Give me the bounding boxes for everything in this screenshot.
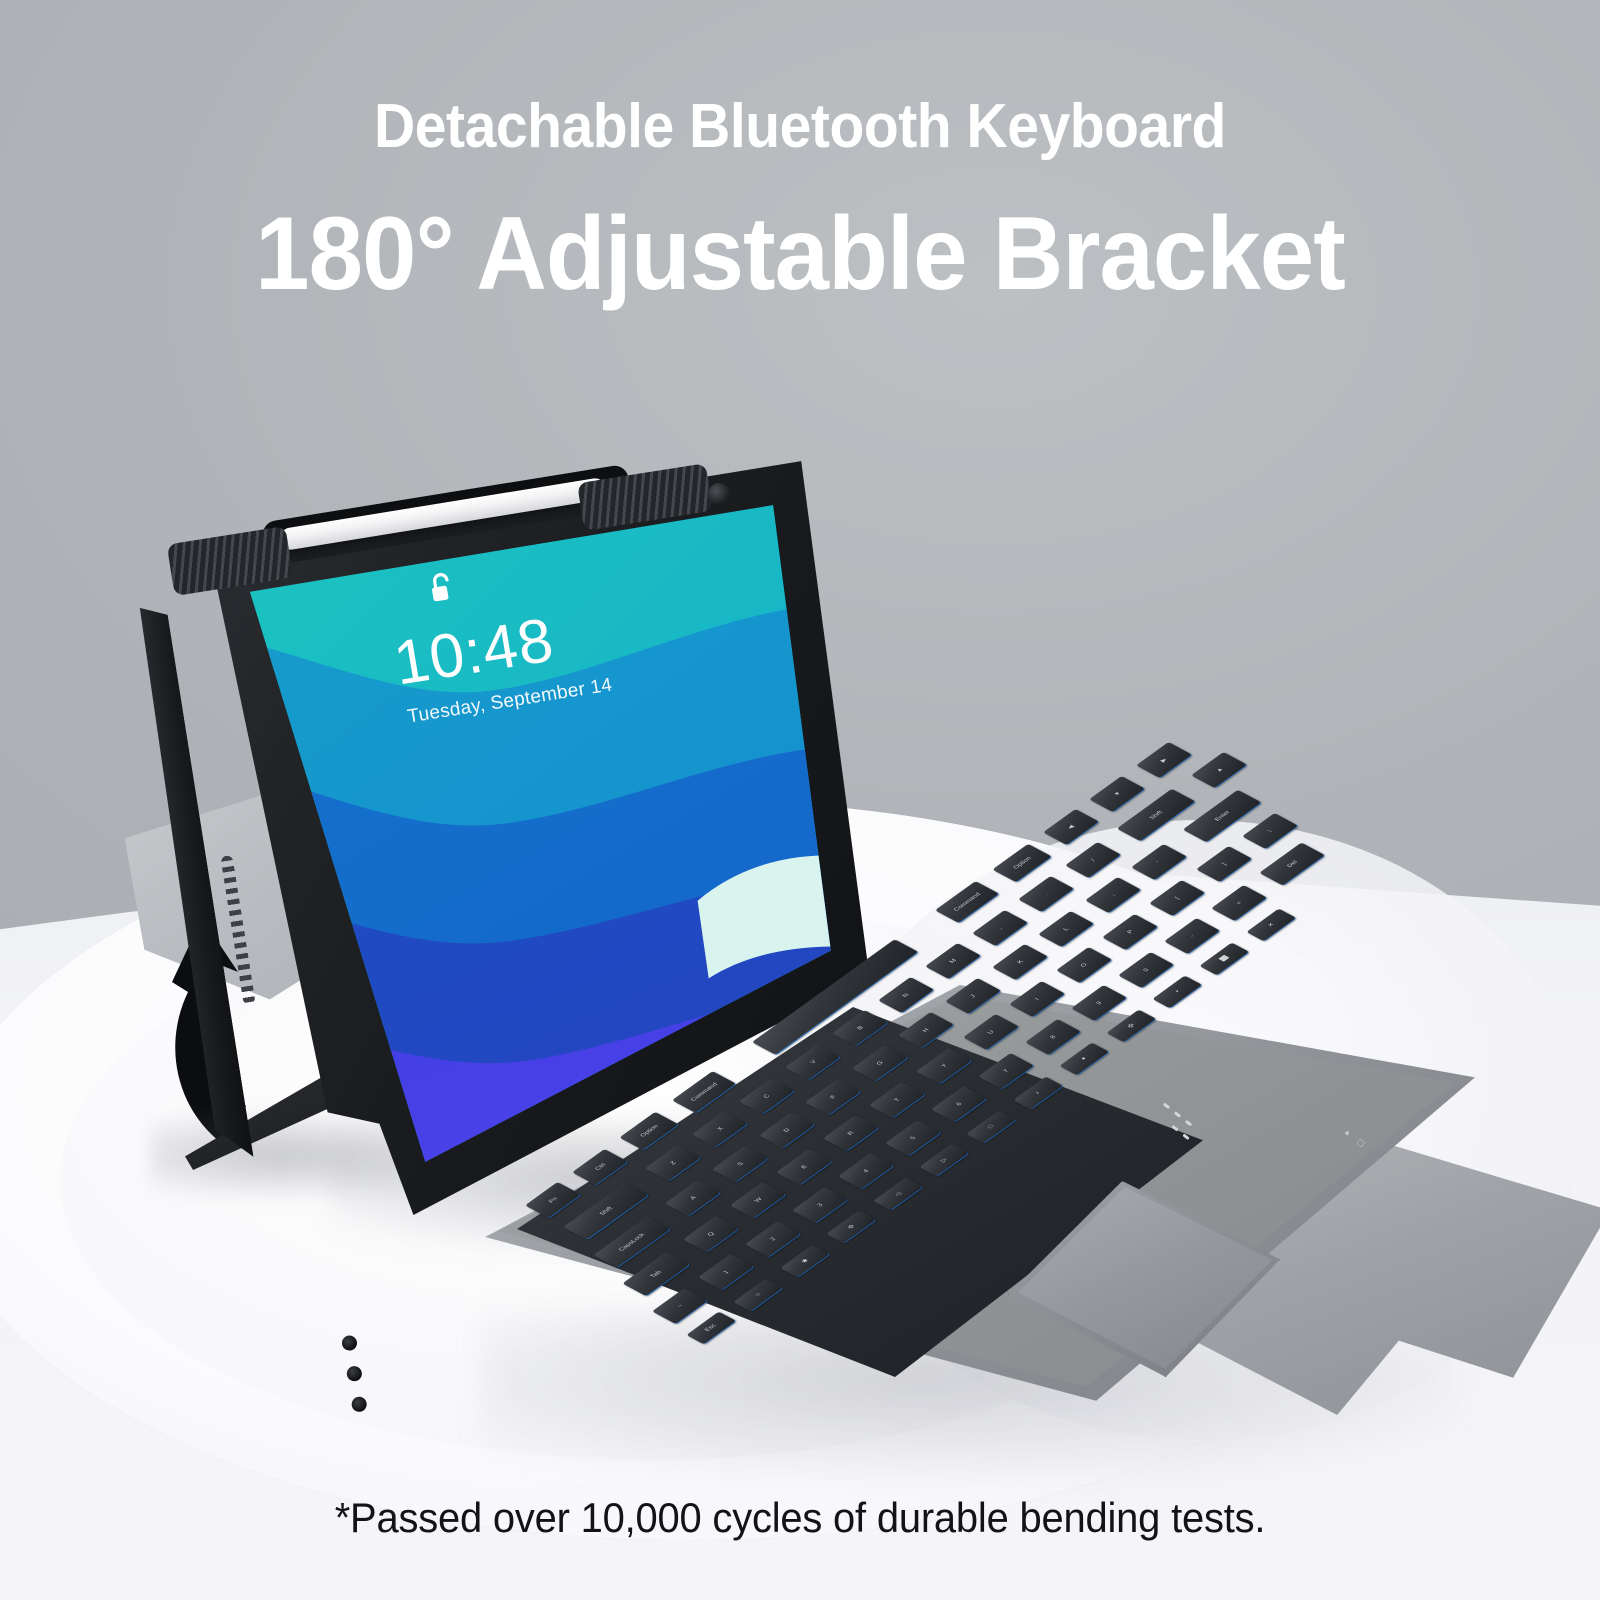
key-2[interactable]: 2 — [745, 1221, 801, 1257]
key-sym[interactable]: ▲ — [1191, 752, 1247, 788]
key-sym[interactable]: \ — [1242, 813, 1298, 849]
key-sym[interactable]: = — [1211, 885, 1267, 921]
key-label: C — [762, 1093, 771, 1098]
key-label: R — [846, 1131, 855, 1136]
key-label: Command — [689, 1082, 718, 1102]
key-del[interactable]: Del — [1260, 842, 1326, 885]
key-label: ⬜ — [1218, 955, 1230, 963]
key-label: 8 — [1049, 1035, 1057, 1040]
headline-primary: Detachable Bluetooth Keyboard — [64, 96, 1536, 158]
key-label: CapsLock — [617, 1232, 645, 1251]
key-label: Enter — [1214, 810, 1232, 822]
key-label: J — [969, 994, 977, 999]
key-label: Y — [940, 1063, 949, 1068]
key-label: ] — [1220, 863, 1227, 867]
key-5[interactable]: 5 — [885, 1120, 941, 1156]
key-s[interactable]: S — [712, 1146, 768, 1182]
key-label: ▶ — [1159, 757, 1169, 763]
key-label: L — [1062, 926, 1070, 931]
key-label: Shift — [1148, 810, 1164, 820]
key-label: ◀ — [1066, 824, 1076, 830]
key-label: K — [1015, 960, 1024, 965]
key-l[interactable]: L — [1038, 911, 1094, 947]
key-sym[interactable]: ▶ — [1136, 742, 1192, 778]
key-u[interactable]: U — [963, 1014, 1019, 1050]
key-w[interactable]: W — [730, 1182, 786, 1218]
key-label: W — [753, 1197, 763, 1203]
key-sym[interactable]: ⚙ — [826, 1211, 875, 1243]
headline-block: Detachable Bluetooth Keyboard 180° Adjus… — [0, 0, 1600, 306]
key-4[interactable]: 4 — [838, 1153, 894, 1189]
key-label: = — [1235, 900, 1243, 905]
key-label: 0 — [1142, 967, 1150, 972]
key-sym[interactable]: ' — [1131, 844, 1187, 880]
key-label: X — [716, 1127, 725, 1132]
key-sym[interactable]: - — [1164, 918, 1220, 954]
key-label: 3 — [816, 1203, 824, 1208]
key-sym[interactable]: ☼ — [733, 1278, 782, 1310]
key-sym[interactable]: □ — [966, 1110, 1015, 1142]
key-label: P — [1126, 929, 1135, 934]
key-o[interactable]: O — [1056, 947, 1112, 983]
key-a[interactable]: A — [665, 1180, 721, 1216]
key-v[interactable]: V — [785, 1044, 841, 1080]
key-r[interactable]: R — [823, 1115, 879, 1151]
key-7[interactable]: 7 — [978, 1053, 1034, 1089]
key-label: H — [922, 1027, 931, 1032]
key-label: ; — [1110, 893, 1117, 897]
key-label: ◑ — [1173, 990, 1181, 995]
key-label: / — [1090, 858, 1097, 862]
key-label: T — [893, 1097, 901, 1102]
detachable-keyboard[interactable]: Esc☼✱⚙◁▷□♪●✠◑⬜✕~1234567890-=DelTabQWERTY… — [470, 985, 1480, 1455]
key-g[interactable]: G — [852, 1045, 908, 1081]
key-f[interactable]: F — [805, 1079, 861, 1115]
port-holes — [341, 1334, 371, 1427]
key-label: Q — [706, 1231, 715, 1237]
key-label: Z — [669, 1160, 677, 1165]
key-sym[interactable]: . — [1018, 876, 1074, 912]
key-option[interactable]: Option — [619, 1112, 678, 1150]
key-p[interactable]: P — [1102, 914, 1158, 950]
key-label: 9 — [1095, 1001, 1103, 1006]
key-c[interactable]: C — [739, 1078, 795, 1114]
key-label: 5 — [909, 1135, 917, 1140]
key-label: 7 — [1002, 1068, 1010, 1073]
key-x[interactable]: X — [692, 1111, 748, 1147]
key-label: ✕ — [1265, 922, 1275, 928]
key-sym[interactable]: ◁ — [873, 1177, 922, 1209]
key-label: ▷ — [939, 1157, 949, 1163]
key-label: [ — [1174, 896, 1181, 900]
key-8[interactable]: 8 — [1025, 1019, 1081, 1055]
key-label: Fn — [548, 1197, 559, 1204]
key-sym[interactable]: ♪ — [1013, 1077, 1062, 1109]
key-sym[interactable]: ; — [1085, 877, 1141, 913]
key-label: D — [782, 1128, 791, 1133]
key-label: Option — [1011, 856, 1031, 870]
key-label: ~ — [676, 1303, 684, 1308]
key-z[interactable]: Z — [645, 1145, 701, 1181]
key-label: ♪ — [1034, 1091, 1042, 1096]
key-label: □ — [987, 1124, 995, 1129]
key-sym[interactable]: ◑ — [1153, 976, 1202, 1008]
key-label: U — [986, 1030, 995, 1035]
key-label: ✱ — [799, 1258, 809, 1264]
key-label: Esc — [704, 1323, 718, 1332]
key-sym[interactable]: ✱ — [780, 1245, 829, 1277]
key-label: S — [736, 1161, 745, 1166]
key-label: Ctrl — [593, 1162, 606, 1171]
key-sym[interactable]: / — [1065, 842, 1121, 878]
key-esc[interactable]: Esc — [687, 1312, 736, 1344]
key-label: . — [1043, 892, 1050, 896]
key-6[interactable]: 6 — [931, 1086, 987, 1122]
key-sym[interactable]: ~ — [652, 1288, 708, 1324]
key-label: F — [829, 1094, 837, 1099]
key-label: , — [996, 926, 1003, 930]
key-label: \ — [1267, 829, 1274, 833]
key-label: 4 — [862, 1169, 870, 1174]
key-sym[interactable]: , — [972, 910, 1028, 946]
key-label: 1 — [722, 1270, 730, 1275]
key-0[interactable]: 0 — [1118, 952, 1174, 988]
key-label: - — [1189, 934, 1196, 938]
key-label: N — [902, 992, 911, 997]
key-label: ◁ — [893, 1191, 903, 1197]
key-option[interactable]: Option — [992, 843, 1051, 881]
key-t[interactable]: T — [869, 1082, 925, 1118]
key-label: V — [809, 1059, 818, 1064]
key-label: 2 — [769, 1236, 777, 1241]
key-command[interactable]: Command — [672, 1071, 736, 1113]
key-label: M — [948, 958, 957, 964]
key-label: O — [1079, 962, 1088, 968]
key-label: Shift — [598, 1206, 614, 1216]
key-label: 6 — [955, 1102, 963, 1107]
key-label: Option — [639, 1124, 659, 1138]
key-command[interactable]: Command — [935, 881, 999, 923]
key-label: ⚙ — [846, 1224, 856, 1230]
key-b[interactable]: B — [832, 1010, 888, 1046]
key-fn[interactable]: Fn — [525, 1182, 581, 1218]
key-sym[interactable]: ▼ — [1089, 776, 1145, 812]
key-label: ✠ — [1126, 1022, 1136, 1028]
key-k[interactable]: K — [992, 944, 1048, 980]
key-tab[interactable]: Tab — [623, 1251, 690, 1295]
key-label: Command — [952, 892, 981, 912]
key-sym[interactable]: ◀ — [1043, 809, 1099, 845]
key-sym[interactable]: ] — [1196, 846, 1252, 882]
key-label: I — [1034, 997, 1041, 1001]
key-label: A — [689, 1195, 698, 1200]
key-sym[interactable]: ▷ — [920, 1144, 969, 1176]
key-label: B — [856, 1026, 865, 1031]
key-sym[interactable]: ● — [1059, 1043, 1108, 1075]
key-label: G — [875, 1060, 884, 1066]
key-label: Tab — [650, 1269, 663, 1278]
key-ctrl[interactable]: Ctrl — [572, 1149, 628, 1185]
key-d[interactable]: D — [759, 1112, 815, 1148]
key-1[interactable]: 1 — [698, 1254, 754, 1290]
key-sym[interactable]: ⬜ — [1199, 942, 1248, 974]
key-9[interactable]: 9 — [1071, 985, 1127, 1021]
key-m[interactable]: M — [925, 943, 981, 979]
keyboard-keys[interactable]: Esc☼✱⚙◁▷□♪●✠◑⬜✕~1234567890-=DelTabQWERTY… — [470, 985, 1480, 1455]
key-h[interactable]: H — [898, 1012, 954, 1048]
key-e[interactable]: E — [776, 1149, 832, 1185]
key-sym[interactable]: [ — [1149, 880, 1205, 916]
headline-secondary: 180° Adjustable Bracket — [48, 202, 1552, 306]
key-label: ▲ — [1214, 766, 1224, 772]
key-i[interactable]: I — [1009, 981, 1065, 1017]
key-label: ● — [1080, 1057, 1088, 1062]
key-label: ☼ — [753, 1291, 763, 1297]
footnote-text: *Passed over 10,000 cycles of durable be… — [40, 1494, 1560, 1542]
key-sym[interactable]: ✕ — [1246, 909, 1295, 941]
key-label: Del — [1286, 860, 1299, 868]
key-sym[interactable]: ✠ — [1106, 1009, 1155, 1041]
key-j[interactable]: J — [945, 978, 1001, 1014]
key-3[interactable]: 3 — [792, 1187, 848, 1223]
key-y[interactable]: Y — [916, 1048, 972, 1084]
key-label: ' — [1156, 860, 1162, 863]
key-q[interactable]: Q — [683, 1216, 739, 1252]
key-label: E — [800, 1164, 809, 1169]
unlock-padlock-icon — [424, 569, 460, 609]
key-label: ▼ — [1112, 790, 1122, 796]
